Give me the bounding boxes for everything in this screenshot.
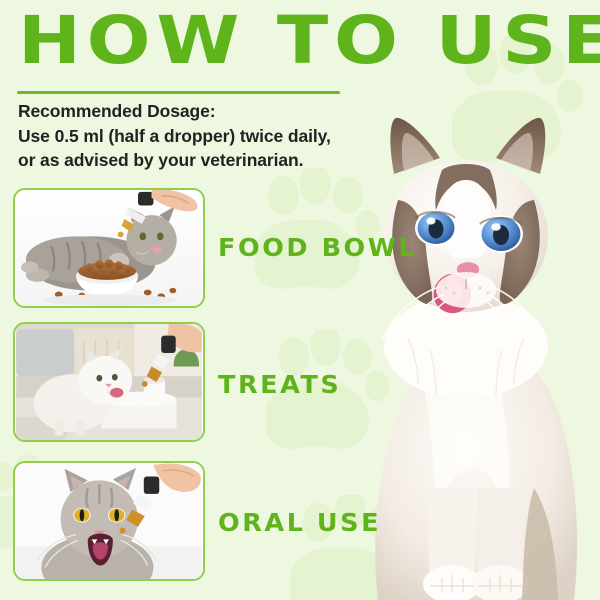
step-label-treats: TREATS (218, 370, 341, 399)
step-label-food-bowl: FOOD BOWL (218, 233, 417, 262)
step-photo-treats (13, 322, 205, 442)
page-title: HOW TO USE (18, 4, 600, 78)
step-photo-oral-use (13, 461, 205, 581)
dosage-line-3: or as advised by your veterinarian. (18, 148, 378, 173)
step-label-oral-use: ORAL USE (218, 508, 381, 537)
poster-canvas: HOW TO USE Recommended Dosage: Use 0.5 m… (0, 0, 600, 600)
dosage-text: Recommended Dosage: Use 0.5 ml (half a d… (18, 99, 378, 173)
step-photo-food-bowl (13, 188, 205, 308)
dosage-line-1: Recommended Dosage: (18, 99, 378, 124)
title-divider (17, 91, 340, 94)
dosage-line-2: Use 0.5 ml (half a dropper) twice daily, (18, 124, 378, 149)
